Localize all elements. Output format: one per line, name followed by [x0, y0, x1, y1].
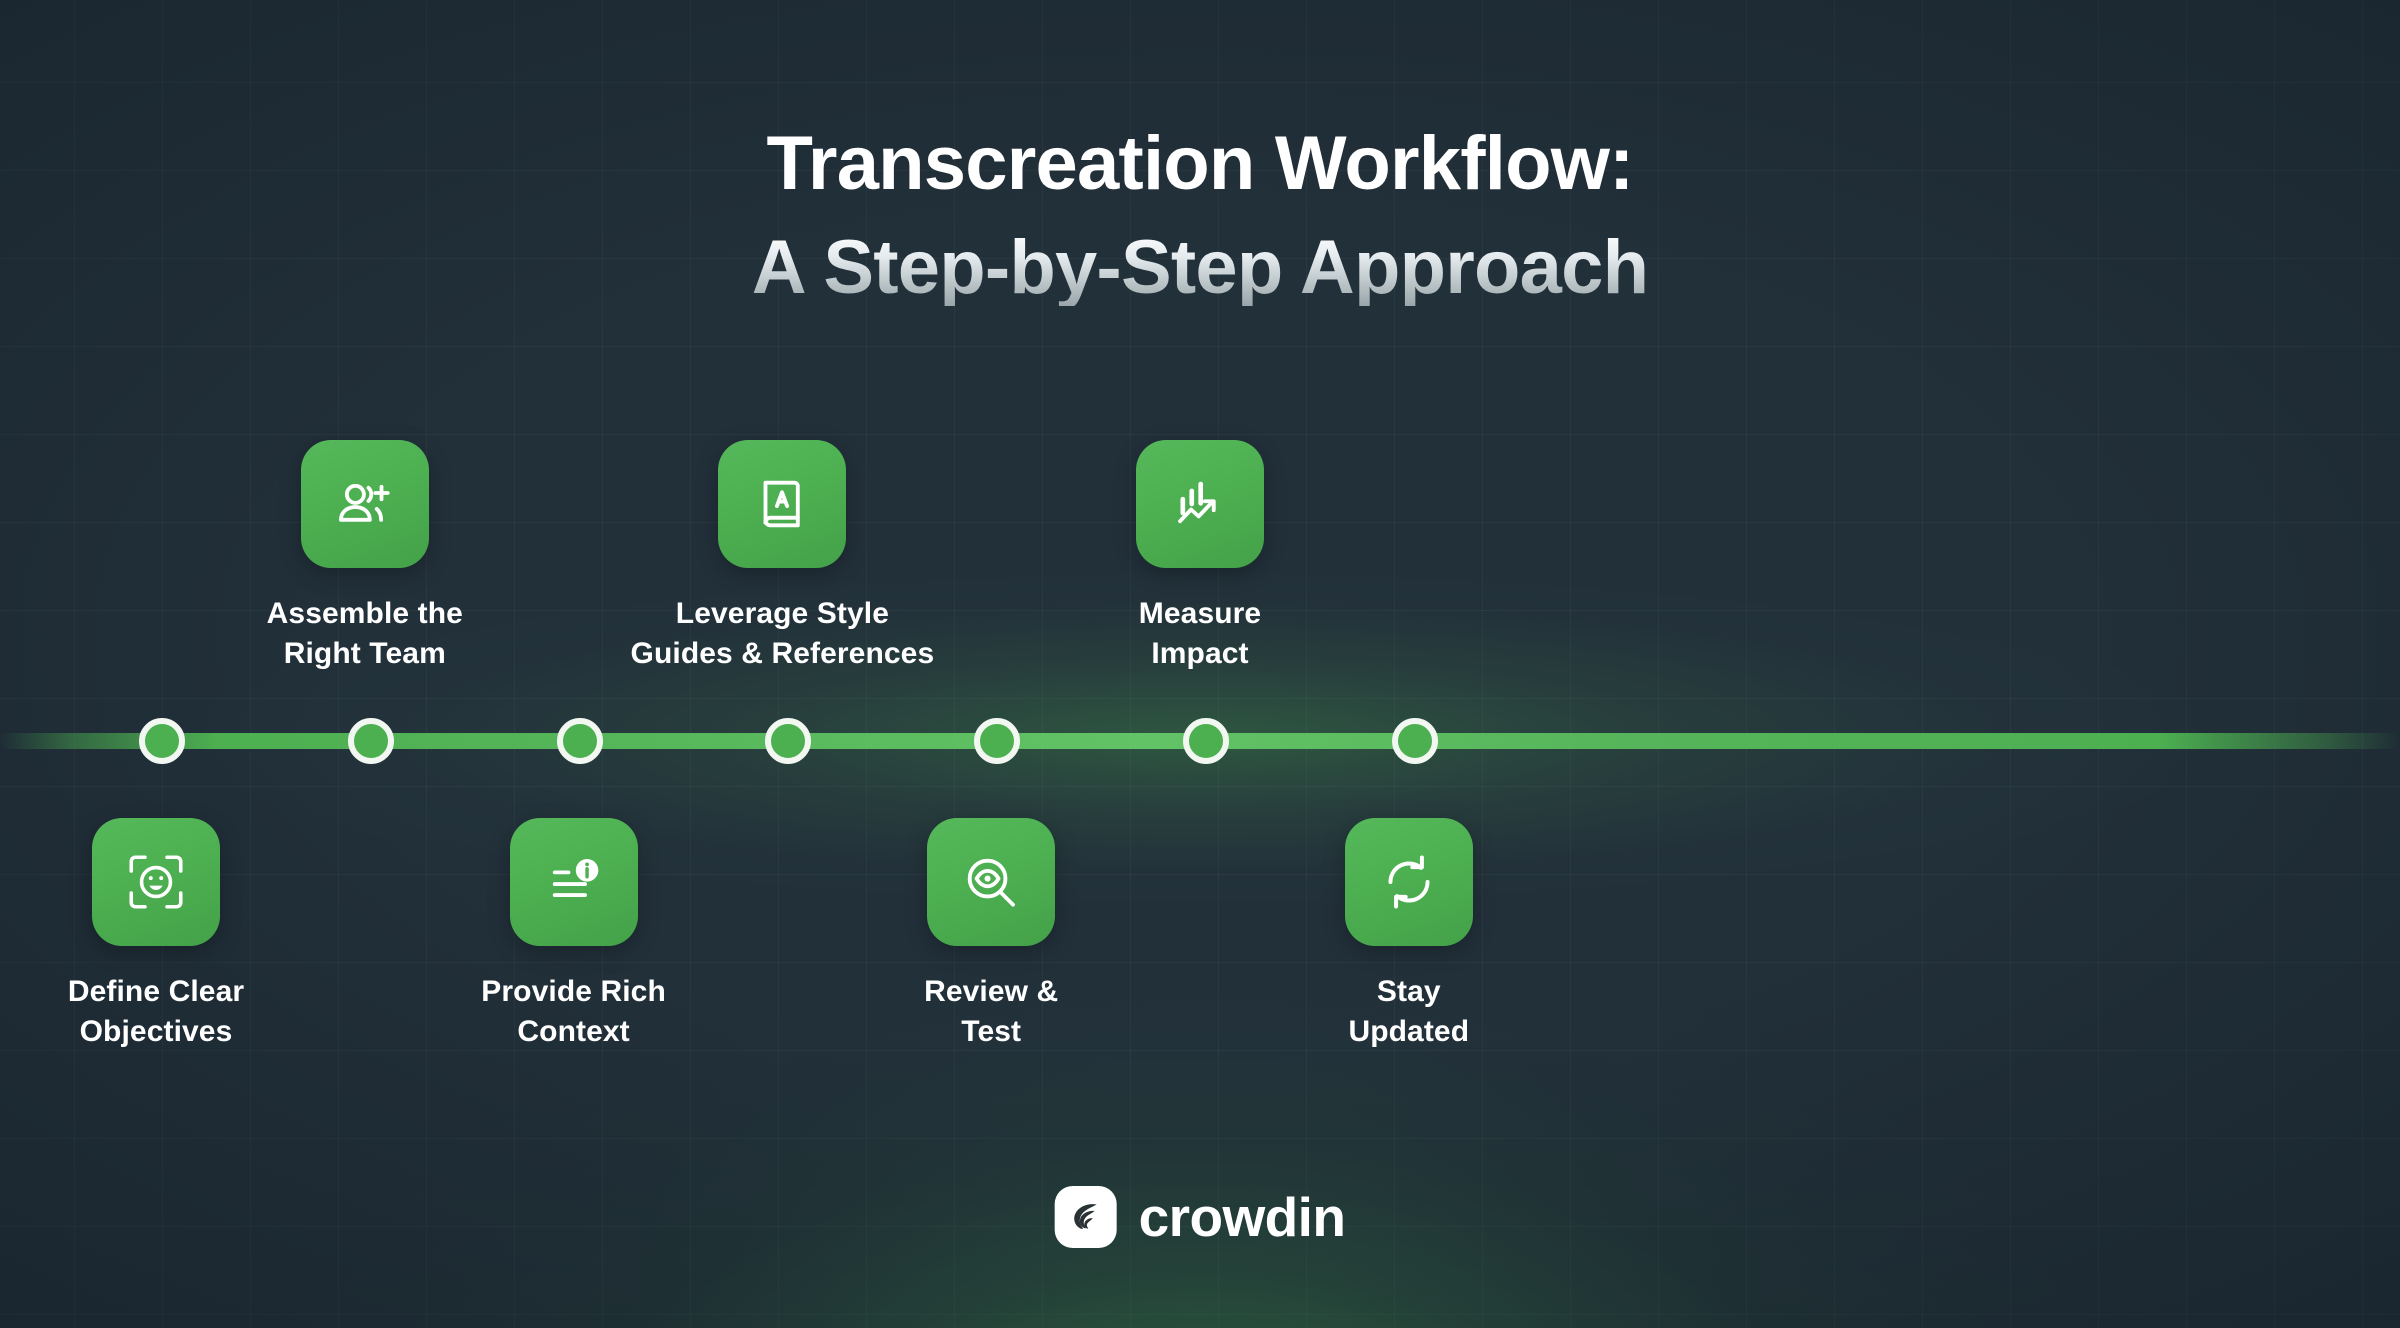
step-label: Review & Test	[821, 972, 1161, 1052]
step-label: Assemble the Right Team	[195, 594, 535, 674]
face-scan-icon	[123, 849, 189, 915]
step-assemble-the-right-team[interactable]: Assemble the Right Team	[195, 440, 535, 674]
brand-name: crowdin	[1139, 1190, 1346, 1245]
eye-search-icon-tile	[927, 818, 1055, 946]
crowdin-logo[interactable]: crowdin	[1055, 1186, 1346, 1248]
step-define-clear-objectives[interactable]: Define Clear Objectives	[0, 818, 326, 1052]
timeline-node-5[interactable]	[974, 718, 1020, 764]
page-title: Transcreation Workflow: A Step-by-Step A…	[0, 126, 2400, 306]
refresh-sync-icon	[1376, 849, 1442, 915]
book-a-icon	[749, 471, 815, 537]
timeline-node-2[interactable]	[348, 718, 394, 764]
step-label: Stay Updated	[1239, 972, 1579, 1052]
title-line-1: Transcreation Workflow:	[0, 126, 2400, 202]
step-label: Leverage Style Guides & References	[612, 594, 952, 674]
timeline-node-7[interactable]	[1392, 718, 1438, 764]
add-user-icon	[332, 471, 398, 537]
step-measure-impact[interactable]: Measure Impact	[1030, 440, 1370, 674]
face-scan-icon-tile	[92, 818, 220, 946]
info-lines-icon	[541, 849, 607, 915]
timeline-node-1[interactable]	[139, 718, 185, 764]
info-lines-icon-tile	[510, 818, 638, 946]
step-label: Measure Impact	[1030, 594, 1370, 674]
timeline-node-3[interactable]	[557, 718, 603, 764]
step-label: Define Clear Objectives	[0, 972, 326, 1052]
step-provide-rich-context[interactable]: Provide Rich Context	[404, 818, 744, 1052]
timeline-node-6[interactable]	[1183, 718, 1229, 764]
chart-trend-icon	[1167, 471, 1233, 537]
step-label: Provide Rich Context	[404, 972, 744, 1052]
book-a-icon-tile	[718, 440, 846, 568]
add-user-icon-tile	[301, 440, 429, 568]
step-review-and-test[interactable]: Review & Test	[821, 818, 1161, 1052]
crowdin-logo-mark	[1055, 1186, 1117, 1248]
refresh-sync-icon-tile	[1345, 818, 1473, 946]
timeline-node-4[interactable]	[765, 718, 811, 764]
title-line-2: A Step-by-Step Approach	[0, 230, 2400, 306]
eye-search-icon	[958, 849, 1024, 915]
infographic-canvas: Transcreation Workflow: A Step-by-Step A…	[0, 0, 2400, 1328]
crowdin-logo-icon	[1064, 1195, 1108, 1239]
chart-trend-icon-tile	[1136, 440, 1264, 568]
step-stay-updated[interactable]: Stay Updated	[1239, 818, 1579, 1052]
step-leverage-style-guides-references[interactable]: Leverage Style Guides & References	[612, 440, 952, 674]
